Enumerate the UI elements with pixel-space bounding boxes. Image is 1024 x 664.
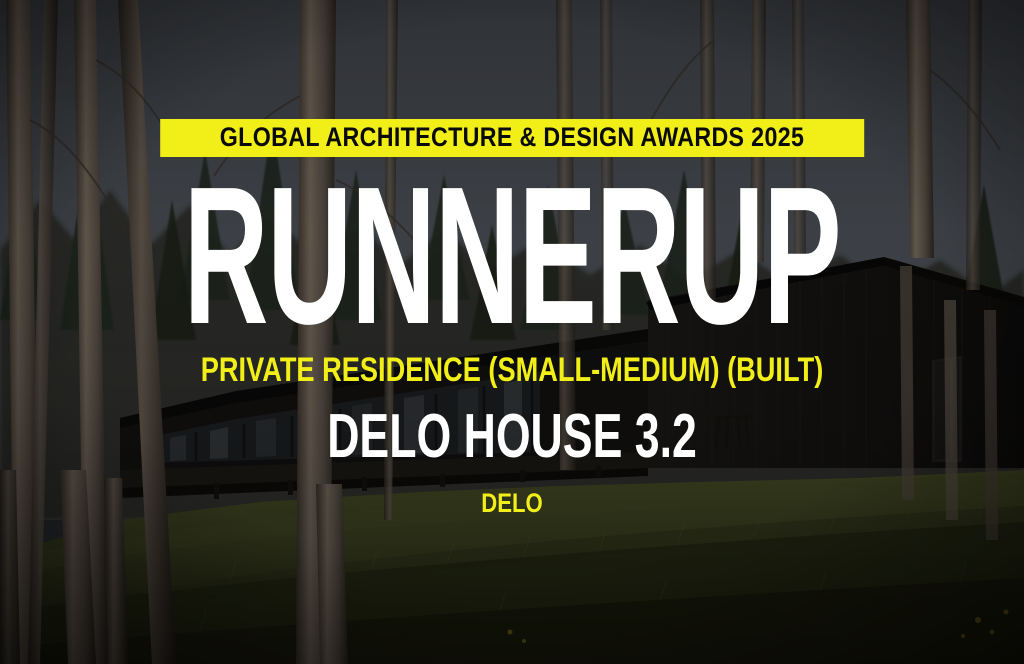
background-photo [0, 0, 1024, 664]
award-poster: GLOBAL ARCHITECTURE & DESIGN AWARDS 2025… [0, 0, 1024, 664]
